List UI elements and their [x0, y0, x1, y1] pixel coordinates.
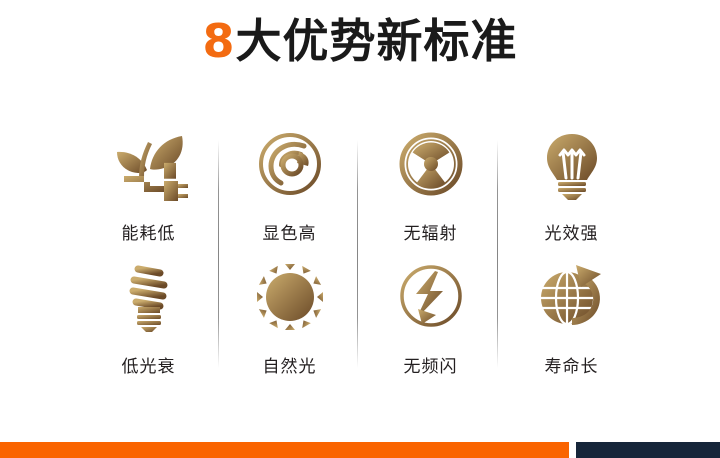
bottom-bar [0, 442, 720, 458]
feature-item-no-radiation[interactable]: 无辐射 [360, 122, 501, 253]
plant-plug-icon [106, 130, 192, 202]
feature-label: 低光衰 [122, 357, 176, 377]
light-bulb-icon [529, 130, 615, 202]
feature-label: 能耗低 [122, 224, 176, 244]
feature-item-natural-light[interactable]: 自然光 [219, 253, 360, 384]
bottom-bar-orange-segment [0, 442, 569, 458]
feature-item-low-lumen-depreciation[interactable]: 低光衰 [78, 253, 219, 384]
globe-arrow-icon [529, 261, 615, 333]
page-title: 8大优势新标准 [0, 12, 720, 70]
feature-item-long-lifespan[interactable]: 寿命长 [501, 253, 642, 384]
page-title-number: 8 [202, 14, 235, 68]
feature-grid: 能耗低 [78, 122, 642, 384]
cfl-spiral-bulb-icon [106, 261, 192, 333]
feature-label: 光效强 [545, 224, 599, 244]
feature-label: 自然光 [263, 357, 317, 377]
feature-label: 无辐射 [404, 224, 458, 244]
feature-item-color-rendering[interactable]: 显色高 [219, 122, 360, 253]
lightning-bolt-icon [388, 261, 474, 333]
feature-item-luminous-efficacy[interactable]: 光效强 [501, 122, 642, 253]
feature-item-no-flicker[interactable]: 无频闪 [360, 253, 501, 384]
radiation-icon [388, 130, 474, 202]
feature-item-energy-saving[interactable]: 能耗低 [78, 122, 219, 253]
sun-icon [247, 261, 333, 333]
feature-label: 显色高 [263, 224, 317, 244]
feature-label: 寿命长 [545, 357, 599, 377]
page-title-text: 大优势新标准 [236, 14, 518, 68]
bottom-bar-navy-segment [576, 442, 720, 458]
page-title-container: 8大优势新标准 [0, 12, 720, 70]
color-swirl-icon [247, 130, 333, 202]
feature-label: 无频闪 [404, 357, 458, 377]
